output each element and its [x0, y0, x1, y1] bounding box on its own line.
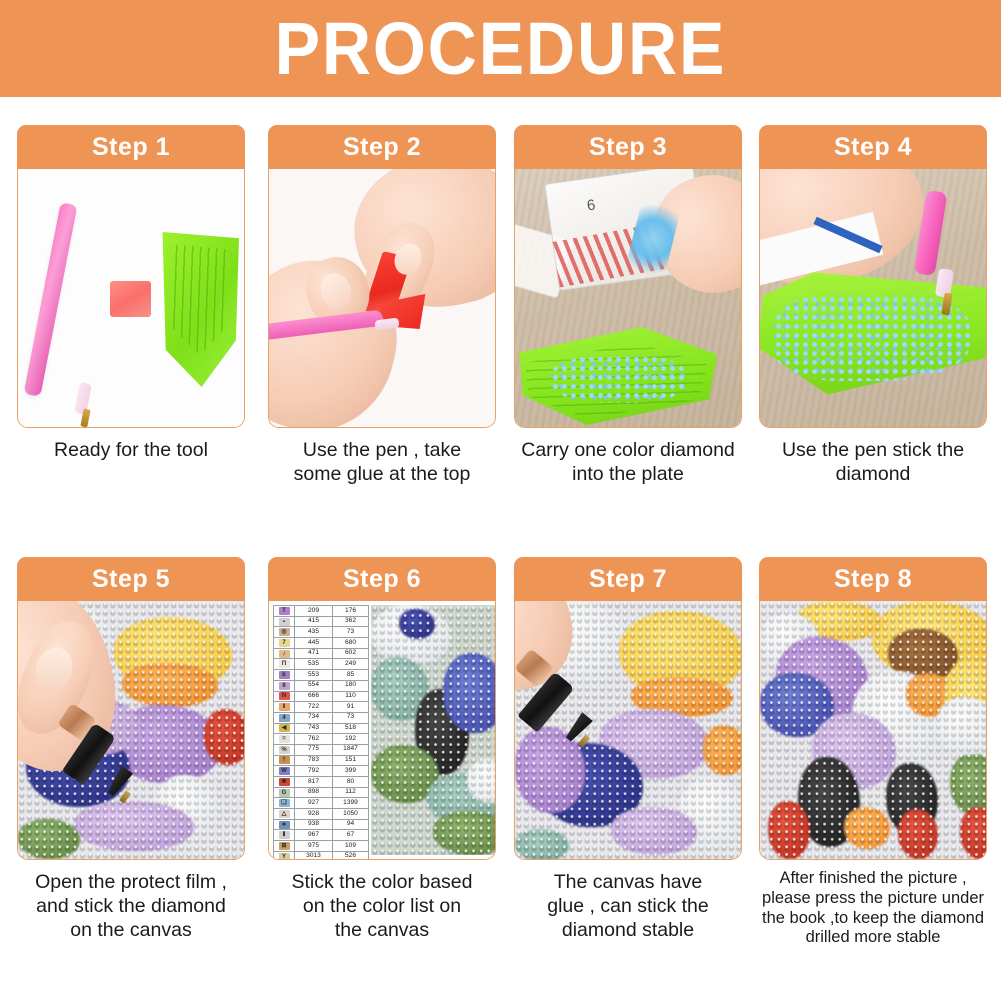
step-photo-2	[269, 169, 495, 427]
color-chart-row: W792399	[274, 766, 369, 777]
count-cell: 91	[333, 702, 369, 713]
color-swatch: 4	[279, 714, 290, 722]
color-swatch: ⊞	[279, 842, 290, 850]
color-symbol-cell: ⫴	[274, 830, 295, 841]
color-chart-row: ♪471602	[274, 648, 369, 659]
dmc-code-cell: 898	[295, 787, 333, 798]
dmc-code-cell: 535	[295, 659, 333, 670]
count-cell: 67	[333, 830, 369, 841]
dmc-code-cell: 553	[295, 670, 333, 681]
count-cell: 192	[333, 734, 369, 745]
step-photo-4	[760, 169, 986, 427]
count-cell: 73	[333, 627, 369, 638]
color-chart-row: T209176	[274, 606, 369, 617]
color-swatch: b	[279, 671, 290, 679]
step-photo-1	[18, 169, 244, 427]
steps-row-top: Step 1 Ready for the tool	[0, 125, 1001, 555]
dmc-code-cell: 734	[295, 712, 333, 723]
page-header-banner: PROCEDURE	[0, 0, 1001, 97]
step-tab-label-7: Step 7	[589, 567, 667, 592]
step-photo-frame-2	[268, 169, 496, 428]
dmc-code-cell: 928	[295, 809, 333, 820]
count-cell: 112	[333, 787, 369, 798]
color-swatch: ❉	[279, 778, 290, 786]
color-swatch: ‖	[279, 703, 290, 711]
color-chart-row: ⌗93894	[274, 819, 369, 830]
step-photo-7	[515, 601, 741, 859]
color-chart-row: ◎43573	[274, 627, 369, 638]
count-cell: 80	[333, 777, 369, 788]
dmc-code-cell: 762	[295, 734, 333, 745]
color-symbol-cell: ♪	[274, 648, 295, 659]
color-chart-body: T209176▪415362◎435737445680♪471602Π53524…	[274, 606, 369, 860]
color-chart-row: ▪415362	[274, 616, 369, 627]
color-swatch: ◎	[279, 628, 290, 636]
dmc-code-cell: 938	[295, 819, 333, 830]
step-tab-1: Step 1	[17, 125, 245, 169]
step-tab-5: Step 5	[17, 557, 245, 601]
color-list-chart: T209176▪415362◎435737445680♪471602Π53524…	[273, 605, 367, 855]
step-tab-label-2: Step 2	[343, 135, 421, 160]
color-chart-row: N666110	[274, 691, 369, 702]
count-cell: 526	[333, 851, 369, 859]
color-swatch: △	[279, 810, 290, 818]
color-symbol-cell: 4	[274, 712, 295, 723]
procedure-infographic: PROCEDURE Step 1	[0, 0, 1001, 1001]
dmc-code-cell: 743	[295, 723, 333, 734]
color-chart-row: ‖72291	[274, 702, 369, 713]
dmc-code-cell: 3013	[295, 851, 333, 859]
color-symbol-cell: 6	[274, 680, 295, 691]
dmc-code-cell: 445	[295, 638, 333, 649]
color-chart-row: 6554180	[274, 680, 369, 691]
step-tab-label-8: Step 8	[834, 567, 912, 592]
blue-diamond-pile	[551, 355, 687, 403]
color-symbol-cell: G	[274, 787, 295, 798]
dmc-code-cell: 415	[295, 616, 333, 627]
color-symbol-cell: T	[274, 606, 295, 617]
color-swatch: ❑	[279, 799, 290, 807]
step-caption-6: Stick the color based on the color list …	[268, 871, 496, 942]
dmc-code-cell: 775	[295, 744, 333, 755]
step-tab-label-4: Step 4	[834, 135, 912, 160]
count-cell: 151	[333, 755, 369, 766]
step-caption-3: Carry one color diamond into the plate	[514, 439, 742, 487]
color-swatch: G	[279, 789, 290, 797]
step-photo-frame-8	[759, 601, 987, 860]
count-cell: 602	[333, 648, 369, 659]
color-chart-row: ❑9271399	[274, 798, 369, 809]
count-cell: 1050	[333, 809, 369, 820]
finished-diamond-painting	[760, 601, 986, 859]
color-chart-row: †783151	[274, 755, 369, 766]
step-tab-label-3: Step 3	[589, 135, 667, 160]
count-cell: 94	[333, 819, 369, 830]
step-caption-5: Open the protect film , and stick the di…	[17, 871, 245, 942]
step-card-8: Step 8	[759, 557, 987, 948]
count-cell: 110	[333, 691, 369, 702]
step-card-5: Step 5	[17, 557, 245, 942]
color-chart-row: Π535249	[274, 659, 369, 670]
color-chart-row: ❉81780	[274, 777, 369, 788]
color-chart-row: ◀743518	[274, 723, 369, 734]
color-symbol-cell: b	[274, 670, 295, 681]
color-swatch: ⫴	[279, 831, 290, 839]
count-cell: 399	[333, 766, 369, 777]
step-card-1: Step 1 Ready for the tool	[17, 125, 245, 463]
step-tab-2: Step 2	[268, 125, 496, 169]
dmc-code-cell: 722	[295, 702, 333, 713]
step-card-4: Step 4 Use the pen stick t	[759, 125, 987, 487]
count-cell: 180	[333, 680, 369, 691]
color-chart-table: T209176▪415362◎435737445680♪471602Π53524…	[273, 605, 369, 859]
color-swatch: 7	[279, 639, 290, 647]
color-chart-row: ⊞975109	[274, 841, 369, 852]
dmc-code-cell: 435	[295, 627, 333, 638]
step-card-3: Step 3 6 Carry	[514, 125, 742, 487]
dmc-code-cell: 471	[295, 648, 333, 659]
color-chart-row: b55385	[274, 670, 369, 681]
color-symbol-cell: ⌗	[274, 819, 295, 830]
diamond-canvas	[371, 605, 495, 855]
count-cell: 73	[333, 712, 369, 723]
color-symbol-cell: 7	[274, 638, 295, 649]
color-symbol-cell: Π	[274, 659, 295, 670]
steps-row-bottom: Step 5	[0, 557, 1001, 1001]
color-symbol-cell: Y	[274, 851, 295, 859]
step-photo-3: 6	[515, 169, 741, 427]
color-swatch: =	[279, 735, 290, 743]
color-swatch: ⌗	[279, 821, 290, 829]
step-tab-label-5: Step 5	[92, 567, 170, 592]
color-swatch: 6	[279, 682, 290, 690]
step-card-7: Step 7	[514, 557, 742, 942]
step-caption-1: Ready for the tool	[17, 439, 245, 463]
dmc-code-cell: 927	[295, 798, 333, 809]
color-symbol-cell: ‖	[274, 702, 295, 713]
step-card-2: Step 2 Use th	[268, 125, 496, 487]
count-cell: 249	[333, 659, 369, 670]
count-cell: 362	[333, 616, 369, 627]
color-swatch: %	[279, 746, 290, 754]
step-photo-5	[18, 601, 244, 859]
count-cell: 176	[333, 606, 369, 617]
step-tab-7: Step 7	[514, 557, 742, 601]
color-symbol-cell: ▪	[274, 616, 295, 627]
count-cell: 680	[333, 638, 369, 649]
color-symbol-cell: △	[274, 809, 295, 820]
step-tab-label-1: Step 1	[92, 135, 170, 160]
step-tab-3: Step 3	[514, 125, 742, 169]
dmc-code-cell: 666	[295, 691, 333, 702]
color-chart-row: 7445680	[274, 638, 369, 649]
step-photo-frame-4	[759, 169, 987, 428]
color-swatch: Y	[279, 853, 290, 859]
step-photo-frame-6: T209176▪415362◎435737445680♪471602Π53524…	[268, 601, 496, 860]
color-swatch: ◀	[279, 724, 290, 732]
step-tab-4: Step 4	[759, 125, 987, 169]
color-chart-row: G898112	[274, 787, 369, 798]
count-cell: 518	[333, 723, 369, 734]
step-photo-frame-3: 6	[514, 169, 742, 428]
step-photo-6: T209176▪415362◎435737445680♪471602Π53524…	[269, 601, 495, 859]
glue-square-icon	[110, 281, 151, 317]
step-caption-4: Use the pen stick the diamond	[759, 439, 987, 487]
steps-grid: Step 1 Ready for the tool	[0, 97, 1001, 1001]
step-caption-2: Use the pen , take some glue at the top	[268, 439, 496, 487]
color-swatch: Π	[279, 660, 290, 668]
color-symbol-cell: ❑	[274, 798, 295, 809]
color-swatch: ▪	[279, 618, 290, 626]
color-symbol-cell: =	[274, 734, 295, 745]
color-symbol-cell: %	[274, 744, 295, 755]
step-photo-frame-1	[17, 169, 245, 428]
dmc-code-cell: 783	[295, 755, 333, 766]
step-tab-8: Step 8	[759, 557, 987, 601]
pink-pen-icon	[24, 202, 78, 397]
blue-diamond-pile	[774, 295, 970, 381]
color-symbol-cell: W	[274, 766, 295, 777]
step-tab-label-6: Step 6	[343, 567, 421, 592]
color-swatch: ♪	[279, 650, 290, 658]
dmc-code-cell: 967	[295, 830, 333, 841]
count-cell: 1399	[333, 798, 369, 809]
color-chart-row: 473473	[274, 712, 369, 723]
color-swatch: W	[279, 767, 290, 775]
color-symbol-cell: ◎	[274, 627, 295, 638]
count-cell: 109	[333, 841, 369, 852]
color-chart-row: ⫴96767	[274, 830, 369, 841]
step-tab-6: Step 6	[268, 557, 496, 601]
color-symbol-cell: N	[274, 691, 295, 702]
color-swatch: †	[279, 756, 290, 764]
color-chart-row: %7751847	[274, 744, 369, 755]
dmc-code-cell: 554	[295, 680, 333, 691]
color-symbol-cell: ◀	[274, 723, 295, 734]
step-caption-8: After finished the picture , please pres…	[759, 869, 987, 948]
color-symbol-cell: ⊞	[274, 841, 295, 852]
step-photo-8	[760, 601, 986, 859]
dmc-code-cell: 975	[295, 841, 333, 852]
step-photo-frame-7	[514, 601, 742, 860]
color-chart-row: =762192	[274, 734, 369, 745]
dmc-code-cell: 792	[295, 766, 333, 777]
step-photo-frame-5	[17, 601, 245, 860]
color-symbol-cell: ❉	[274, 777, 295, 788]
color-swatch: T	[279, 607, 290, 615]
color-chart-row: △9281050	[274, 809, 369, 820]
step-card-6: Step 6 T209176▪415362◎435737445680♪47160…	[268, 557, 496, 942]
count-cell: 1847	[333, 744, 369, 755]
color-symbol-cell: †	[274, 755, 295, 766]
page-title: PROCEDURE	[275, 12, 727, 86]
color-chart-row: Y3013526	[274, 851, 369, 859]
dmc-code-cell: 817	[295, 777, 333, 788]
dmc-code-cell: 209	[295, 606, 333, 617]
color-swatch: N	[279, 692, 290, 700]
step-caption-7: The canvas have glue , can stick the dia…	[514, 871, 742, 942]
count-cell: 85	[333, 670, 369, 681]
